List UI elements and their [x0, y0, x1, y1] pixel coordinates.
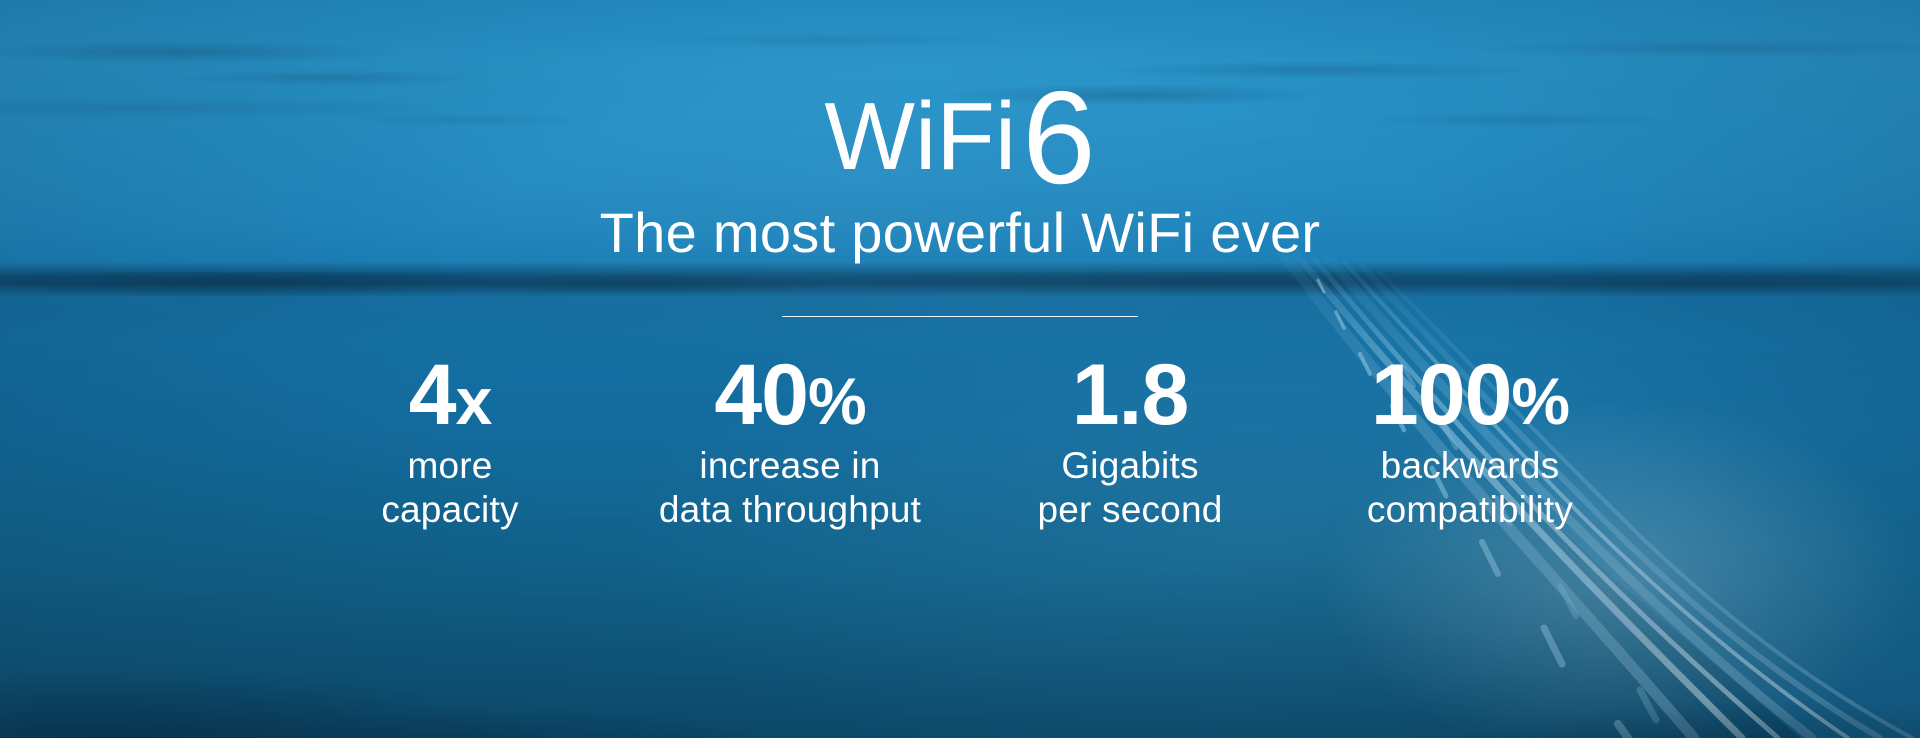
- stat-value: 4x: [280, 352, 620, 438]
- stat-item-gigabits-per-second: 1.8 Gigabits per second: [960, 352, 1300, 531]
- stat-label: backwards compatibility: [1300, 444, 1640, 531]
- stat-item-data-throughput: 40% increase in data throughput: [620, 352, 960, 531]
- stat-label: Gigabits per second: [960, 444, 1300, 531]
- headline: WiFi6: [0, 58, 1920, 190]
- stats-row: 4x more capacity 40% increase in data th…: [0, 352, 1920, 531]
- stat-number: 4: [409, 347, 456, 443]
- headline-number: 6: [1022, 64, 1095, 211]
- stat-unit: x: [456, 364, 492, 438]
- wifi6-hero-banner: WiFi6 The most powerful WiFi ever 4x mor…: [0, 0, 1920, 738]
- stat-value: 100%: [1300, 352, 1640, 438]
- banner-content: WiFi6 The most powerful WiFi ever 4x mor…: [0, 0, 1920, 738]
- headline-word: WiFi: [824, 83, 1016, 190]
- stat-number: 100: [1371, 347, 1512, 443]
- stat-value: 1.8: [960, 352, 1300, 438]
- stat-label: increase in data throughput: [620, 444, 960, 531]
- divider-rule: [782, 316, 1138, 317]
- stat-label: more capacity: [280, 444, 620, 531]
- stat-number: 40: [714, 347, 808, 443]
- stat-item-backwards-compatibility: 100% backwards compatibility: [1300, 352, 1640, 531]
- stat-unit: %: [1511, 364, 1569, 438]
- subheadline: The most powerful WiFi ever: [0, 202, 1920, 264]
- stat-unit: %: [808, 364, 866, 438]
- stat-item-more-capacity: 4x more capacity: [280, 352, 620, 531]
- stat-number: 1.8: [1072, 347, 1189, 443]
- stat-value: 40%: [620, 352, 960, 438]
